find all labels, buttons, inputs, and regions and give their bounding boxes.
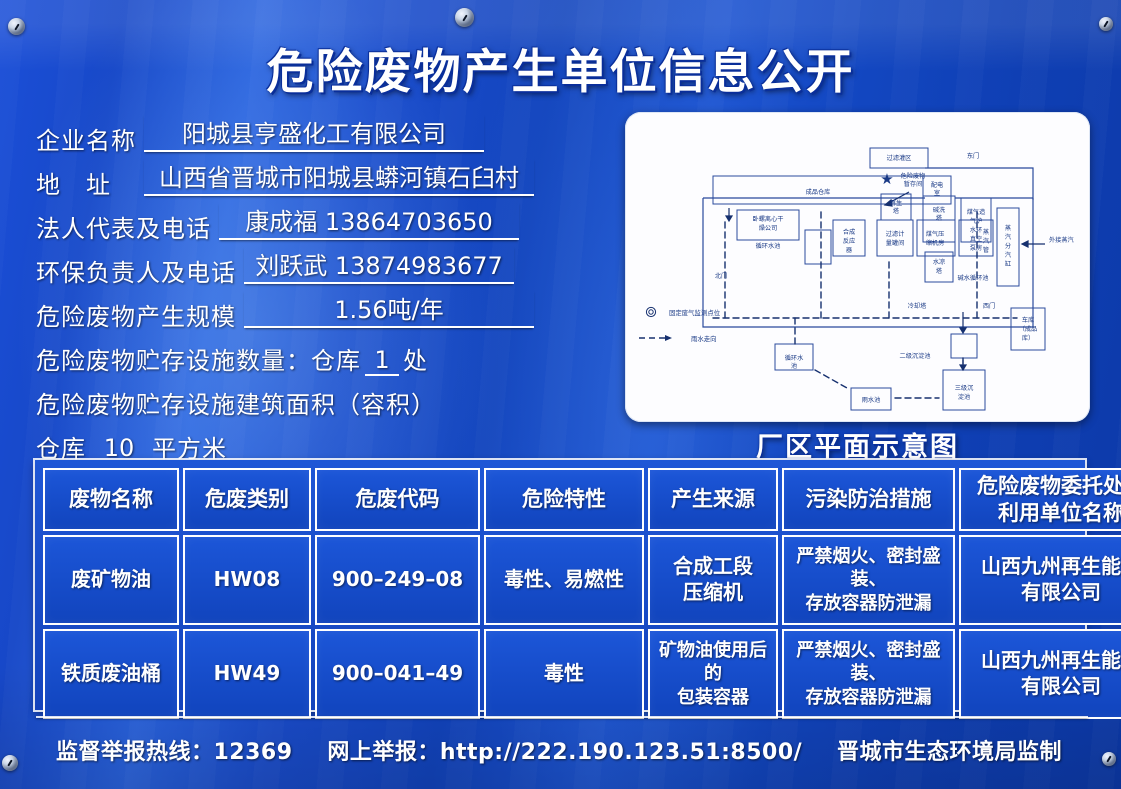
svg-text:再生: 再生 <box>890 199 902 207</box>
info-label-storage-count: 危险废物贮存设施数量：仓库 <box>36 341 361 376</box>
plan-svg: ★ 成品仓库 配电室 过滤灌区 东门 危险废物暂存间 再生塔 卧螺离心干燥公司 … <box>625 112 1090 422</box>
svg-text:气炉: 气炉 <box>970 217 982 225</box>
svg-text:合成: 合成 <box>843 228 855 236</box>
info-row-storage-area-label: 危险废物贮存设施建筑面积（容积） <box>36 376 596 420</box>
info-label-address: 地址 <box>36 165 136 200</box>
info-label-storage-area: 危险废物贮存设施建筑面积（容积） <box>36 385 436 420</box>
mounting-screw-top-right <box>1099 17 1113 31</box>
hazardous-waste-table: 废物名称 危废类别 危废代码 危险特性 产生来源 污染防治措施 危险废物委托处置… <box>39 464 1121 723</box>
info-value-company-name: 阳城县亨盛化工有限公司 <box>144 114 484 152</box>
svg-text:危险废物: 危险废物 <box>901 172 926 180</box>
svg-text:循环水池: 循环水池 <box>756 242 781 250</box>
svg-text:配电: 配电 <box>931 181 943 189</box>
plan-legend: 固定废气监测点位 雨水走向 <box>639 307 721 343</box>
cell-hazard-property: 毒性、易燃性 <box>484 535 644 625</box>
svg-text:煤气造: 煤气造 <box>967 208 986 216</box>
cell-hazard-property: 毒性 <box>484 629 644 719</box>
cell-waste-code: 900–249–08 <box>315 535 480 625</box>
th-hazard-property: 危险特性 <box>484 468 644 531</box>
info-value-legal-rep: 康成福 13864703650 <box>219 202 519 240</box>
mounting-screw-bottom-left <box>2 755 18 771</box>
factory-plan-diagram: ★ 成品仓库 配电室 过滤灌区 东门 危险废物暂存间 再生塔 卧螺离心干燥公司 … <box>625 112 1090 422</box>
mounting-screw-bottom-right <box>1102 752 1116 766</box>
th-waste-name: 废物名称 <box>43 468 179 531</box>
svg-text:管: 管 <box>983 246 989 254</box>
cell-disposal-unit: 山西九州再生能源有限公司 <box>959 629 1121 719</box>
info-label-env-officer: 环保负责人及电话 <box>36 253 236 288</box>
cell-disposal-unit: 山西九州再生能源有限公司 <box>959 535 1121 625</box>
info-label-company-name: 企业名称 <box>36 121 136 156</box>
mounting-screw-top-left <box>8 18 25 35</box>
info-unit-storage-count: 处 <box>403 341 428 376</box>
cell-pollution-measures: 严禁烟火、密封盛装、存放容器防泄漏 <box>782 629 955 719</box>
legend-text-monitoring-point: 固定废气监测点位 <box>669 308 721 317</box>
page-title: 危险废物产生单位信息公开 <box>0 33 1121 102</box>
th-waste-code: 危废代码 <box>315 468 480 531</box>
svg-text:循环水: 循环水 <box>785 354 804 362</box>
svg-text:真空: 真空 <box>970 235 982 243</box>
svg-text:车库: 车库 <box>1022 316 1034 324</box>
info-row-env-officer: 环保负责人及电话 刘跃武 13874983677 <box>36 244 596 288</box>
svg-text:器: 器 <box>846 247 853 254</box>
svg-text:水凉: 水凉 <box>933 258 945 266</box>
svg-text:淀池: 淀池 <box>958 393 970 401</box>
hazard-star-icon: ★ <box>880 170 893 188</box>
plan-caption: 厂区平面示意图 <box>625 425 1090 464</box>
footer-hotline: 监督举报热线：12369 <box>56 734 293 766</box>
info-value-generation-scale: 1.56吨/年 <box>244 290 534 328</box>
information-board: 危险废物产生单位信息公开 企业名称 阳城县亨盛化工有限公司 地址 山西省晋城市阳… <box>0 0 1121 789</box>
info-label-warehouse: 仓库 <box>36 429 86 464</box>
footer-report-url: 网上举报：http://222.190.123.51:8500/ <box>327 734 802 766</box>
cell-waste-code: 900–041–49 <box>315 629 480 719</box>
info-row-generation-scale: 危险废物产生规模 1.56吨/年 <box>36 288 596 332</box>
svg-text:煤气压: 煤气压 <box>926 230 945 238</box>
svg-text:雨水池: 雨水池 <box>862 396 881 404</box>
svg-text:冷却塔: 冷却塔 <box>908 302 927 310</box>
info-value-address: 山西省晋城市阳城县蟒河镇石臼村 <box>144 158 534 196</box>
info-row-address: 地址 山西省晋城市阳城县蟒河镇石臼村 <box>36 156 596 200</box>
svg-text:泵房: 泵房 <box>970 244 982 252</box>
company-info-block: 企业名称 阳城县亨盛化工有限公司 地址 山西省晋城市阳城县蟒河镇石臼村 法人代表… <box>36 112 596 464</box>
svg-text:北门: 北门 <box>715 272 727 280</box>
svg-text:暂存间: 暂存间 <box>904 180 923 188</box>
svg-text:缩机房: 缩机房 <box>926 239 945 247</box>
footer: 监督举报热线：12369 网上举报：http://222.190.123.51:… <box>36 728 1086 772</box>
svg-text:碱洗: 碱洗 <box>933 206 946 214</box>
svg-text:碱水循环池: 碱水循环池 <box>958 274 989 282</box>
svg-text:卧螺离心干: 卧螺离心干 <box>753 215 784 223</box>
svg-text:量罐间: 量罐间 <box>886 239 905 247</box>
svg-text:汽: 汽 <box>983 237 989 245</box>
table-row: 铁质废油桶 HW49 900–041–49 毒性 矿物油使用后的包装容器 严禁烟… <box>43 629 1121 719</box>
svg-text:水环: 水环 <box>970 226 982 234</box>
svg-text:过滤计: 过滤计 <box>886 230 905 238</box>
svg-text:东门: 东门 <box>967 152 979 160</box>
svg-text:汽: 汽 <box>1005 233 1011 241</box>
cell-pollution-measures: 严禁烟火、密封盛装、存放容器防泄漏 <box>782 535 955 625</box>
info-row-company-name: 企业名称 阳城县亨盛化工有限公司 <box>36 112 596 156</box>
cell-waste-category: HW49 <box>183 629 311 719</box>
svg-text:汽: 汽 <box>1005 251 1011 259</box>
th-pollution-measures: 污染防治措施 <box>782 468 955 531</box>
svg-text:室: 室 <box>934 189 940 197</box>
footer-authority: 晋城市生态环境局监制 <box>837 734 1062 766</box>
hazardous-waste-table-wrapper: 废物名称 危废类别 危废代码 危险特性 产生来源 污染防治措施 危险废物委托处置… <box>35 460 1085 710</box>
info-row-storage-area-value: 仓库 10 平方米 <box>36 420 596 464</box>
info-value-storage-count: 1 <box>365 346 399 376</box>
cell-waste-name: 废矿物油 <box>43 535 179 625</box>
info-label-generation-scale: 危险废物产生规模 <box>36 297 236 332</box>
svg-text:二级沉淀池: 二级沉淀池 <box>900 352 931 360</box>
svg-text:西门: 西门 <box>983 302 995 310</box>
svg-text:燥公司: 燥公司 <box>759 224 778 232</box>
svg-text:蒸: 蒸 <box>983 228 989 236</box>
svg-text:成品仓库: 成品仓库 <box>806 188 831 196</box>
svg-text:分: 分 <box>1005 242 1011 250</box>
cell-generation-source: 矿物油使用后的包装容器 <box>648 629 778 719</box>
svg-text:外接蒸汽: 外接蒸汽 <box>1049 236 1074 244</box>
footer-divider <box>36 716 1088 718</box>
svg-text:蒸: 蒸 <box>1005 224 1011 232</box>
info-row-storage-count: 危险废物贮存设施数量：仓库 1 处 <box>36 332 596 376</box>
cell-generation-source: 合成工段压缩机 <box>648 535 778 625</box>
cell-waste-category: HW08 <box>183 535 311 625</box>
info-unit-storage-area: 平方米 <box>152 429 227 464</box>
svg-text:池: 池 <box>791 362 797 370</box>
th-waste-category: 危废类别 <box>183 468 311 531</box>
svg-text:过滤灌区: 过滤灌区 <box>887 154 912 162</box>
th-generation-source: 产生来源 <box>648 468 778 531</box>
svg-text:缸: 缸 <box>1005 260 1011 268</box>
svg-text:反应: 反应 <box>843 237 855 245</box>
table-header-row: 废物名称 危废类别 危废代码 危险特性 产生来源 污染防治措施 危险废物委托处置… <box>43 468 1121 531</box>
plan-canvas: ★ 成品仓库 配电室 过滤灌区 东门 危险废物暂存间 再生塔 卧螺离心干燥公司 … <box>625 112 1090 422</box>
cell-waste-name: 铁质废油桶 <box>43 629 179 719</box>
info-value-env-officer: 刘跃武 13874983677 <box>244 246 514 284</box>
svg-text:塔: 塔 <box>936 267 943 275</box>
mounting-screw-top-center <box>455 8 474 27</box>
table-row: 废矿物油 HW08 900–249–08 毒性、易燃性 合成工段压缩机 严禁烟火… <box>43 535 1121 625</box>
info-row-legal-rep: 法人代表及电话 康成福 13864703650 <box>36 200 596 244</box>
svg-text:塔: 塔 <box>936 214 943 222</box>
svg-text:三级沉: 三级沉 <box>955 384 974 392</box>
legend-text-rainwater-flow: 雨水走向 <box>691 334 717 343</box>
svg-text:库）: 库） <box>1022 334 1034 342</box>
info-label-legal-rep: 法人代表及电话 <box>36 209 211 244</box>
svg-text:（成品: （成品 <box>1019 325 1038 333</box>
th-disposal-unit: 危险废物委托处置利用单位名称 <box>959 468 1121 531</box>
svg-text:塔: 塔 <box>893 207 900 215</box>
